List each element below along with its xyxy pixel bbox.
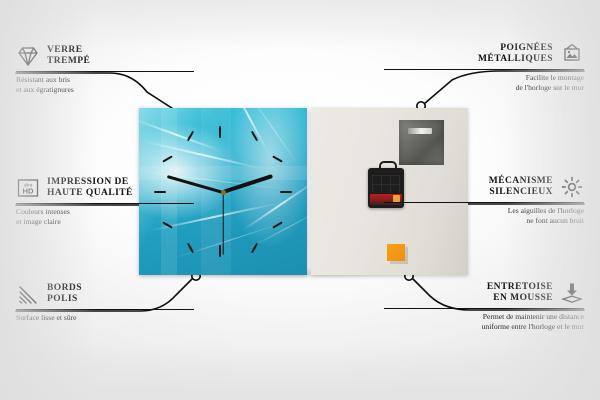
svg-text:HD: HD (23, 187, 34, 196)
polished-edges-icon (16, 282, 40, 306)
feature-impression-haute-qualite: ultra HD IMPRESSION DE HAUTE QUALITÉ Cou… (16, 176, 216, 227)
feature-subtitle: Les aiguilles de l'horloge ne font aucun… (384, 206, 584, 226)
feature-poignees-metalliques: POIGNÉES MÉTALLIQUES Facilite le montage… (384, 42, 584, 93)
foam-spacer-icon (560, 281, 584, 305)
feature-subtitle: Surface lisse et sûre (16, 313, 216, 323)
feature-title: BORDS POLIS (47, 283, 82, 306)
feature-bords-polis: BORDS POLIS Surface lisse et sûre (16, 282, 216, 323)
metal-hanger-plate (399, 120, 444, 165)
picture-hanger-icon (560, 42, 584, 66)
feature-title: VERRE TREMPÉ (47, 45, 90, 68)
divider (384, 69, 584, 70)
feature-mecanisme-silencieux: MÉCANISME SILENCIEUX Les aiguilles de l'… (384, 175, 584, 226)
gear-icon (560, 175, 584, 199)
feature-title: MÉCANISME SILENCIEUX (489, 176, 553, 199)
hanger-slot (408, 128, 432, 134)
second-hand (222, 193, 223, 255)
diamond-icon (16, 44, 40, 68)
feature-subtitle: Couleurs intenses et image claire (16, 207, 216, 227)
divider (384, 202, 584, 203)
clock-center-pin (221, 190, 226, 195)
feature-title: ENTRETOISE EN MOUSSE (487, 282, 553, 305)
feature-title: POIGNÉES MÉTALLIQUES (478, 43, 553, 66)
feature-subtitle: Permet de maintenir une distance uniform… (384, 312, 584, 332)
feature-verre-trempe: VERRE TREMPÉ Résistant aux bris et aux é… (16, 44, 216, 95)
divider (16, 309, 194, 310)
feature-title: IMPRESSION DE HAUTE QUALITÉ (47, 177, 133, 200)
hour-hand (222, 174, 273, 194)
feature-entretoise-en-mousse: ENTRETOISE EN MOUSSE Permet de maintenir… (384, 281, 584, 332)
divider (384, 308, 584, 309)
divider (16, 203, 194, 204)
feature-subtitle: Facilite le montage de l'horloge sur le … (384, 73, 584, 93)
infographic-canvas: VERRE TREMPÉ Résistant aux bris et aux é… (0, 0, 600, 400)
mechanism-loop (379, 161, 397, 173)
foam-spacer (387, 244, 405, 261)
feature-subtitle: Résistant aux bris et aux égratignures (16, 75, 216, 95)
ultra-hd-icon: ultra HD (16, 176, 40, 200)
divider (16, 71, 194, 72)
